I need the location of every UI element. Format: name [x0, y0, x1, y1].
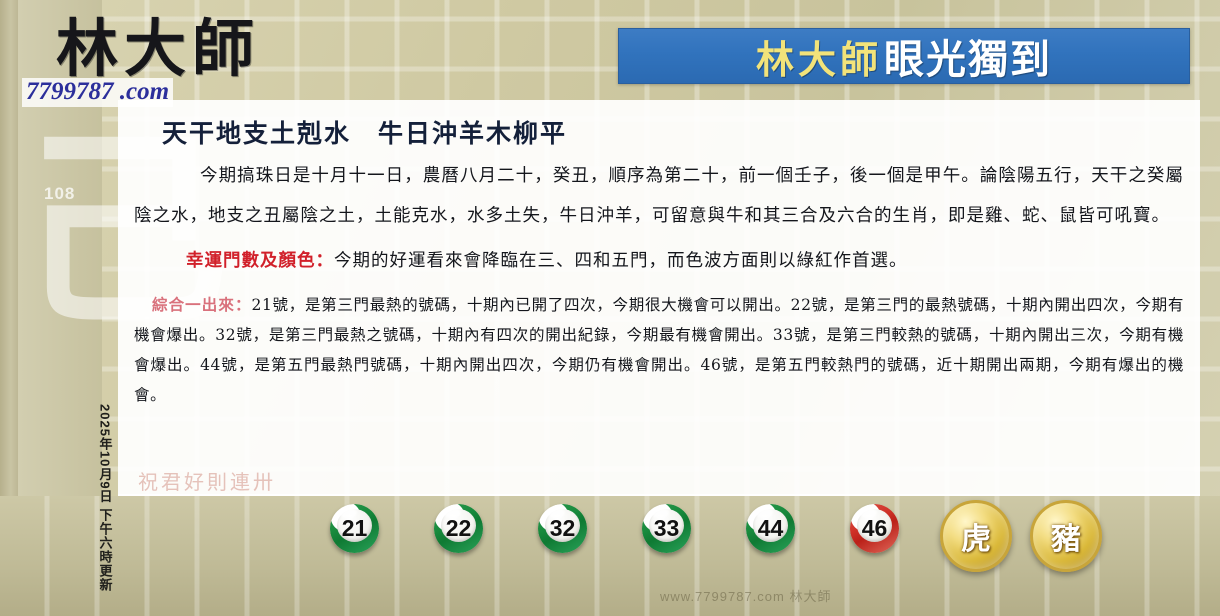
- bottom-watermark: www.7799787.com 林大師: [660, 586, 831, 605]
- update-timestamp-text: 2025年10月9日 下午六時更新: [96, 404, 115, 592]
- analysis-text: 21號，是第三門最熱的號碼，十期內已開了四次，今期很大機會可以開出。22號，是第…: [134, 296, 1184, 404]
- article-paragraph-analysis: 綜合一出來：21號，是第三門最熱的號碼，十期內已開了四次，今期很大機會可以開出。…: [134, 290, 1184, 410]
- analysis-label: 綜合一出來: [152, 295, 235, 314]
- lottery-ball[interactable]: 22: [434, 504, 483, 553]
- ball-number: 21: [342, 517, 368, 540]
- lottery-ball[interactable]: 21: [330, 504, 379, 553]
- watermark-page-number: 108: [44, 184, 75, 204]
- lottery-ball-row: 21 22 32 33 44: [330, 504, 899, 553]
- zodiac-medallion-row: 虎 豬: [940, 500, 1102, 572]
- headline-banner: 林大師 眼光獨到: [618, 28, 1190, 84]
- site-logo: 林大師: [56, 18, 260, 80]
- ball-number: 44: [758, 517, 784, 540]
- lottery-ball[interactable]: 33: [642, 504, 691, 553]
- banner-brand-text: 林大師: [756, 29, 882, 84]
- banner-slogan-text: 眼光獨到: [884, 27, 1052, 85]
- lucky-label-separator: ：: [316, 251, 335, 271]
- ball-number: 33: [654, 517, 680, 540]
- poster-page: 己 108 林大師 7799787 .com 林大師 眼光獨到 天干地支土剋水 …: [0, 0, 1220, 616]
- page-title: 天干地支土剋水 牛日沖羊木柳平: [162, 114, 1184, 150]
- article-paragraph-intro: 今期搞珠日是十月十一日，農曆八月二十，癸丑，順序為第二十，前一個壬子，後一個是甲…: [134, 156, 1184, 236]
- zodiac-medallion[interactable]: 豬: [1030, 500, 1102, 572]
- lucky-label: 幸運門數及顏色: [186, 251, 316, 271]
- article-paragraph-lucky: 幸運門數及顏色：今期的好運看來會降臨在三、四和五門，而色波方面則以綠紅作首選。: [134, 242, 1184, 280]
- ball-number: 32: [550, 517, 576, 540]
- analysis-label-separator: ：: [235, 295, 252, 314]
- lottery-ball[interactable]: 46: [850, 504, 899, 553]
- handwritten-note: 祝君好則連卅: [138, 466, 276, 495]
- lucky-text: 今期的好運看來會降臨在三、四和五門，而色波方面則以綠紅作首選。: [334, 251, 908, 271]
- zodiac-medallion[interactable]: 虎: [940, 500, 1012, 572]
- article-card: 天干地支土剋水 牛日沖羊木柳平 今期搞珠日是十月十一日，農曆八月二十，癸丑，順序…: [118, 100, 1200, 496]
- ball-number: 46: [862, 517, 888, 540]
- ball-number: 22: [446, 517, 472, 540]
- update-timestamp: 2025年10月9日 下午六時更新: [92, 404, 118, 604]
- lottery-ball[interactable]: 44: [746, 504, 795, 553]
- lottery-ball[interactable]: 32: [538, 504, 587, 553]
